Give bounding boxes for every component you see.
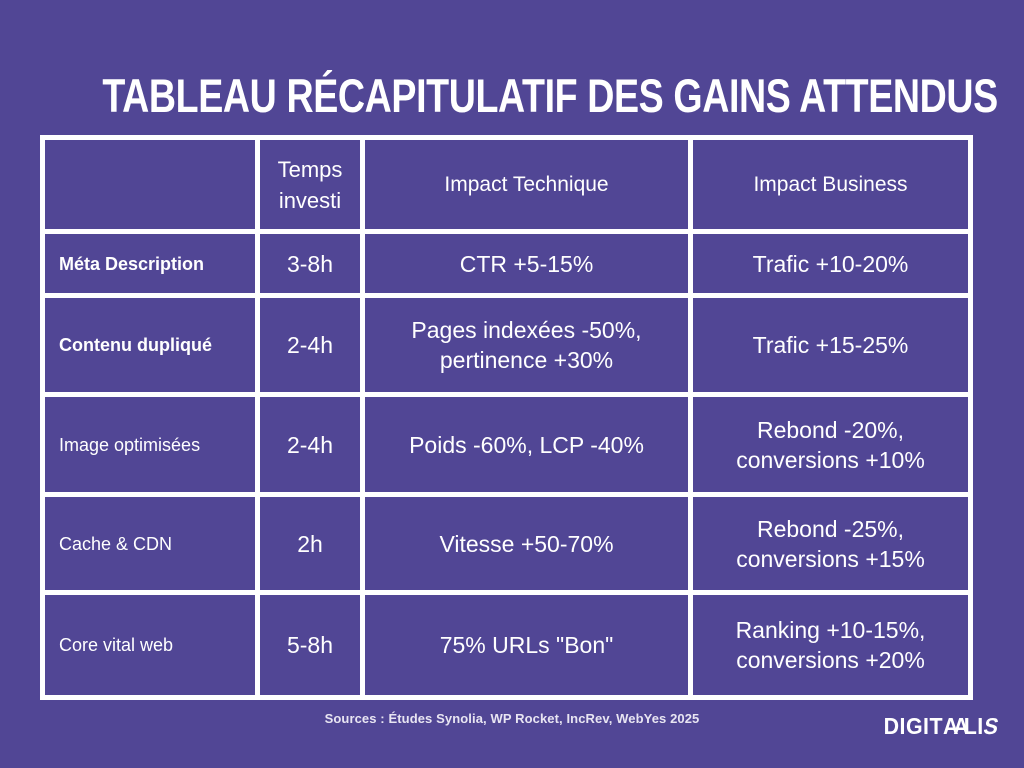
row-business-impact: Rebond -25%, conversions +15%: [693, 497, 968, 595]
column-header-technical: Impact Technique: [365, 140, 693, 234]
row-label: Contenu dupliqué: [45, 298, 260, 397]
header-row: Temps investi Impact Technique Impact Bu…: [45, 140, 968, 234]
row-time: 2h: [260, 497, 365, 595]
row-business-impact: Rebond -20%, conversions +10%: [693, 397, 968, 497]
row-label: Image optimisées: [45, 397, 260, 497]
row-technical-impact: Poids -60%, LCP -40%: [365, 397, 693, 497]
row-technical-impact: Pages indexées -50%, pertinence +30%: [365, 298, 693, 397]
logo-part-li: LI: [963, 713, 983, 739]
column-header-business: Impact Business: [693, 140, 968, 234]
column-header-time: Temps investi: [260, 140, 365, 234]
logo-part-digit: DIGIT: [883, 713, 942, 739]
page-title: TABLEAU RÉCAPITULATIF DES GAINS ATTENDUS: [102, 69, 921, 123]
table-header: Temps investi Impact Technique Impact Bu…: [45, 140, 968, 234]
table-row: Image optimisées 2-4h Poids -60%, LCP -4…: [45, 397, 968, 497]
sources-note: Sources : Études Synolia, WP Rocket, Inc…: [0, 711, 1024, 726]
row-time: 2-4h: [260, 397, 365, 497]
table-row: Cache & CDN 2h Vitesse +50-70% Rebond -2…: [45, 497, 968, 595]
column-header-label: [45, 140, 260, 234]
logo-part-aa: AA: [943, 713, 964, 739]
table-body: Méta Description 3-8h CTR +5-15% Trafic …: [45, 234, 968, 695]
table-row: Core vital web 5-8h 75% URLs "Bon" Ranki…: [45, 595, 968, 695]
table-row: Méta Description 3-8h CTR +5-15% Trafic …: [45, 234, 968, 298]
row-time: 2-4h: [260, 298, 365, 397]
row-label: Cache & CDN: [45, 497, 260, 595]
row-technical-impact: 75% URLs "Bon": [365, 595, 693, 695]
table-row: Contenu dupliqué 2-4h Pages indexées -50…: [45, 298, 968, 397]
row-business-impact: Ranking +10-15%, conversions +20%: [693, 595, 968, 695]
row-technical-impact: Vitesse +50-70%: [365, 497, 693, 595]
row-business-impact: Trafic +15-25%: [693, 298, 968, 397]
row-time: 3-8h: [260, 234, 365, 298]
gains-summary-table: Temps investi Impact Technique Impact Bu…: [40, 135, 973, 700]
row-label: Core vital web: [45, 595, 260, 695]
row-time: 5-8h: [260, 595, 365, 695]
digitaalis-logo: DIGITAALIS: [883, 713, 998, 739]
row-technical-impact: CTR +5-15%: [365, 234, 693, 298]
row-label: Méta Description: [45, 234, 260, 298]
row-business-impact: Trafic +10-20%: [693, 234, 968, 298]
